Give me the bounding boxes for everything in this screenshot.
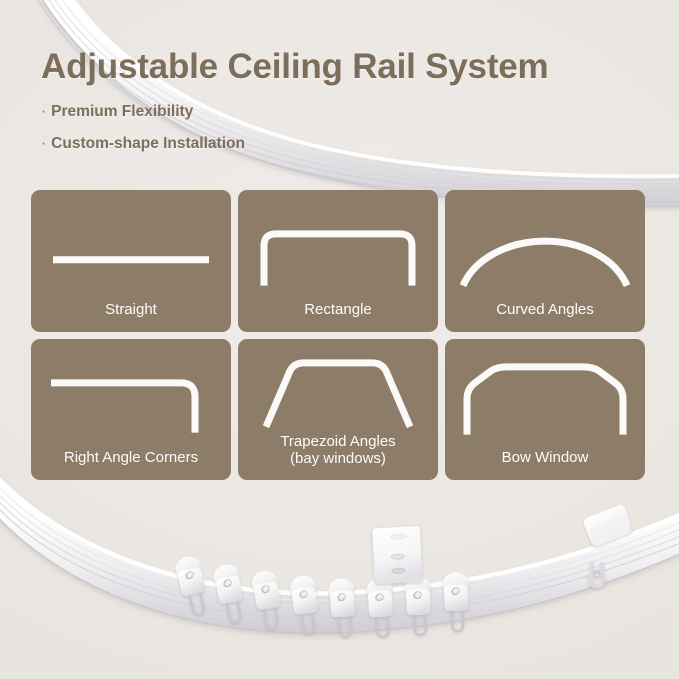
- shape-label-text: Rectangle: [304, 301, 372, 318]
- glider-carriers: [173, 554, 470, 638]
- shape-card-right-angle-corners: Right Angle Corners: [31, 339, 231, 481]
- shape-label-text: Straight: [105, 301, 157, 318]
- feature-bullet-list: ·Premium Flexibility ·Custom-shape Insta…: [41, 104, 641, 152]
- shape-label-text: Right Angle Corners: [64, 449, 198, 466]
- page-title: Adjustable Ceiling Rail System: [41, 48, 641, 87]
- shape-card-bow-window: Bow Window: [445, 339, 645, 481]
- feature-bullet: ·Custom-shape Installation: [41, 136, 641, 152]
- shape-card-trapezoid-angles: Trapezoid Angles (bay windows): [238, 339, 438, 481]
- feature-bullet: ·Premium Flexibility: [41, 104, 641, 120]
- shape-label-text: Bow Window: [502, 449, 589, 466]
- flexible-rail-bottom: [0, 470, 679, 633]
- shape-card-label: Right Angle Corners: [31, 450, 231, 480]
- shape-card-label: Trapezoid Angles (bay windows): [238, 434, 438, 480]
- mounting-bracket: [372, 525, 423, 583]
- headline-block: Adjustable Ceiling Rail System ·Premium …: [41, 48, 641, 169]
- product-infographic: Adjustable Ceiling Rail System ·Premium …: [0, 0, 679, 679]
- shape-card-label: Bow Window: [445, 450, 645, 480]
- shape-label-text: Trapezoid Angles: [280, 433, 395, 450]
- shape-card-curved-angles: Curved Angles: [445, 190, 645, 332]
- end-cap: [582, 504, 634, 587]
- shape-label-text: Curved Angles: [496, 301, 594, 318]
- shape-card-label: Straight: [31, 302, 231, 332]
- feature-bullet-text: Custom-shape Installation: [51, 135, 245, 152]
- feature-bullet-text: Premium Flexibility: [51, 103, 193, 120]
- shape-card-label: Curved Angles: [445, 302, 645, 332]
- bullet-marker-icon: ·: [41, 104, 46, 120]
- bullet-marker-icon: ·: [41, 136, 46, 152]
- shape-card-straight: Straight: [31, 190, 231, 332]
- shape-option-grid: Straight Rectangle Curved Angles: [31, 190, 645, 480]
- shape-card-label: Rectangle: [238, 302, 438, 332]
- shape-card-rectangle: Rectangle: [238, 190, 438, 332]
- shape-label-sublabel: (bay windows): [238, 451, 438, 468]
